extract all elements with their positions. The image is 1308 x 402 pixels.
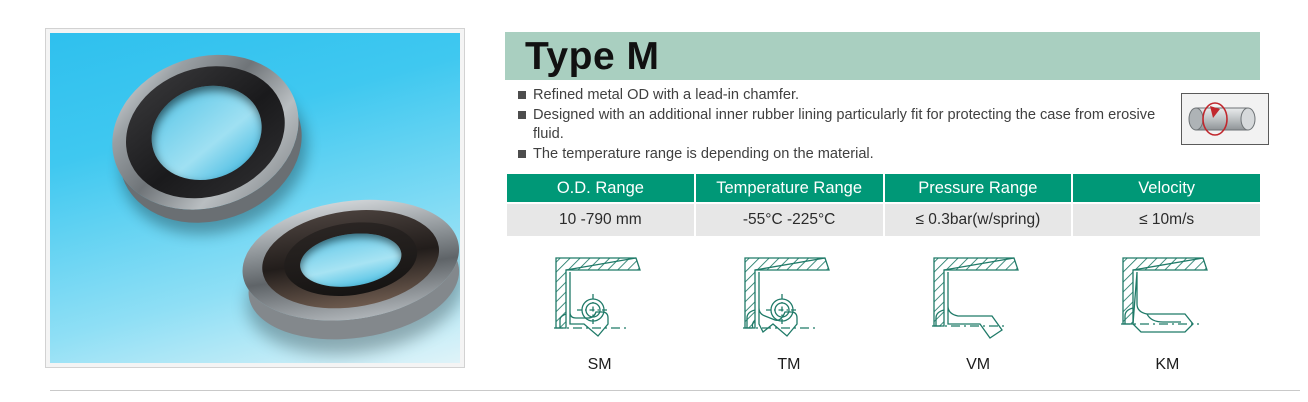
specification-table: O.D. Range Temperature Range Pressure Ra… <box>505 172 1262 238</box>
seal-profile-km: KM <box>1073 248 1262 378</box>
cell-temperature-range: -55°C -225°C <box>696 204 883 236</box>
feature-item: The temperature range is depending on th… <box>518 145 1178 165</box>
product-photo-frame <box>45 28 465 368</box>
feature-item: Designed with an additional inner rubber… <box>518 106 1178 145</box>
table-header-row: O.D. Range Temperature Range Pressure Ra… <box>507 174 1260 202</box>
oil-seal-lying <box>235 187 460 363</box>
seal-cross-section-km-icon <box>1107 248 1227 354</box>
page-title: Type M <box>525 35 659 79</box>
column-header-pressure-range: Pressure Range <box>885 174 1072 202</box>
profile-label: SM <box>588 356 612 374</box>
seal-cross-section-sm-icon <box>540 248 660 354</box>
product-datasheet-page: Type M Refined metal OD with a lead-in c… <box>0 0 1308 402</box>
column-header-velocity: Velocity <box>1073 174 1260 202</box>
cell-pressure-range: ≤ 0.3bar(w/spring) <box>885 204 1072 236</box>
cell-od-range: 10 -790 mm <box>507 204 694 236</box>
profile-label: VM <box>966 356 990 374</box>
seal-profile-diagrams: SM <box>505 248 1262 378</box>
feature-item: Refined metal OD with a lead-in chamfer. <box>518 86 1178 106</box>
footer-divider <box>50 390 1300 391</box>
bullet-square-icon <box>518 111 526 119</box>
title-banner: Type M <box>505 32 1260 80</box>
column-header-od-range: O.D. Range <box>507 174 694 202</box>
seal-profile-sm: SM <box>505 248 694 378</box>
bullet-square-icon <box>518 91 526 99</box>
table-row: 10 -790 mm -55°C -225°C ≤ 0.3bar(w/sprin… <box>507 204 1260 236</box>
seal-cross-section-tm-icon <box>729 248 849 354</box>
seal-cross-section-vm-icon <box>918 248 1038 354</box>
feature-text: Designed with an additional inner rubber… <box>533 106 1178 145</box>
feature-text: The temperature range is depending on th… <box>533 145 1178 165</box>
seal-profile-tm: TM <box>694 248 883 378</box>
feature-list: Refined metal OD with a lead-in chamfer.… <box>518 86 1178 164</box>
column-header-temperature-range: Temperature Range <box>696 174 883 202</box>
cell-velocity: ≤ 10m/s <box>1073 204 1260 236</box>
seal-profile-vm: VM <box>884 248 1073 378</box>
product-photo <box>50 33 460 363</box>
profile-label: KM <box>1155 356 1179 374</box>
profile-label: TM <box>777 356 800 374</box>
bullet-square-icon <box>518 150 526 158</box>
rotating-shaft-icon <box>1181 93 1269 145</box>
feature-text: Refined metal OD with a lead-in chamfer. <box>533 86 1178 106</box>
